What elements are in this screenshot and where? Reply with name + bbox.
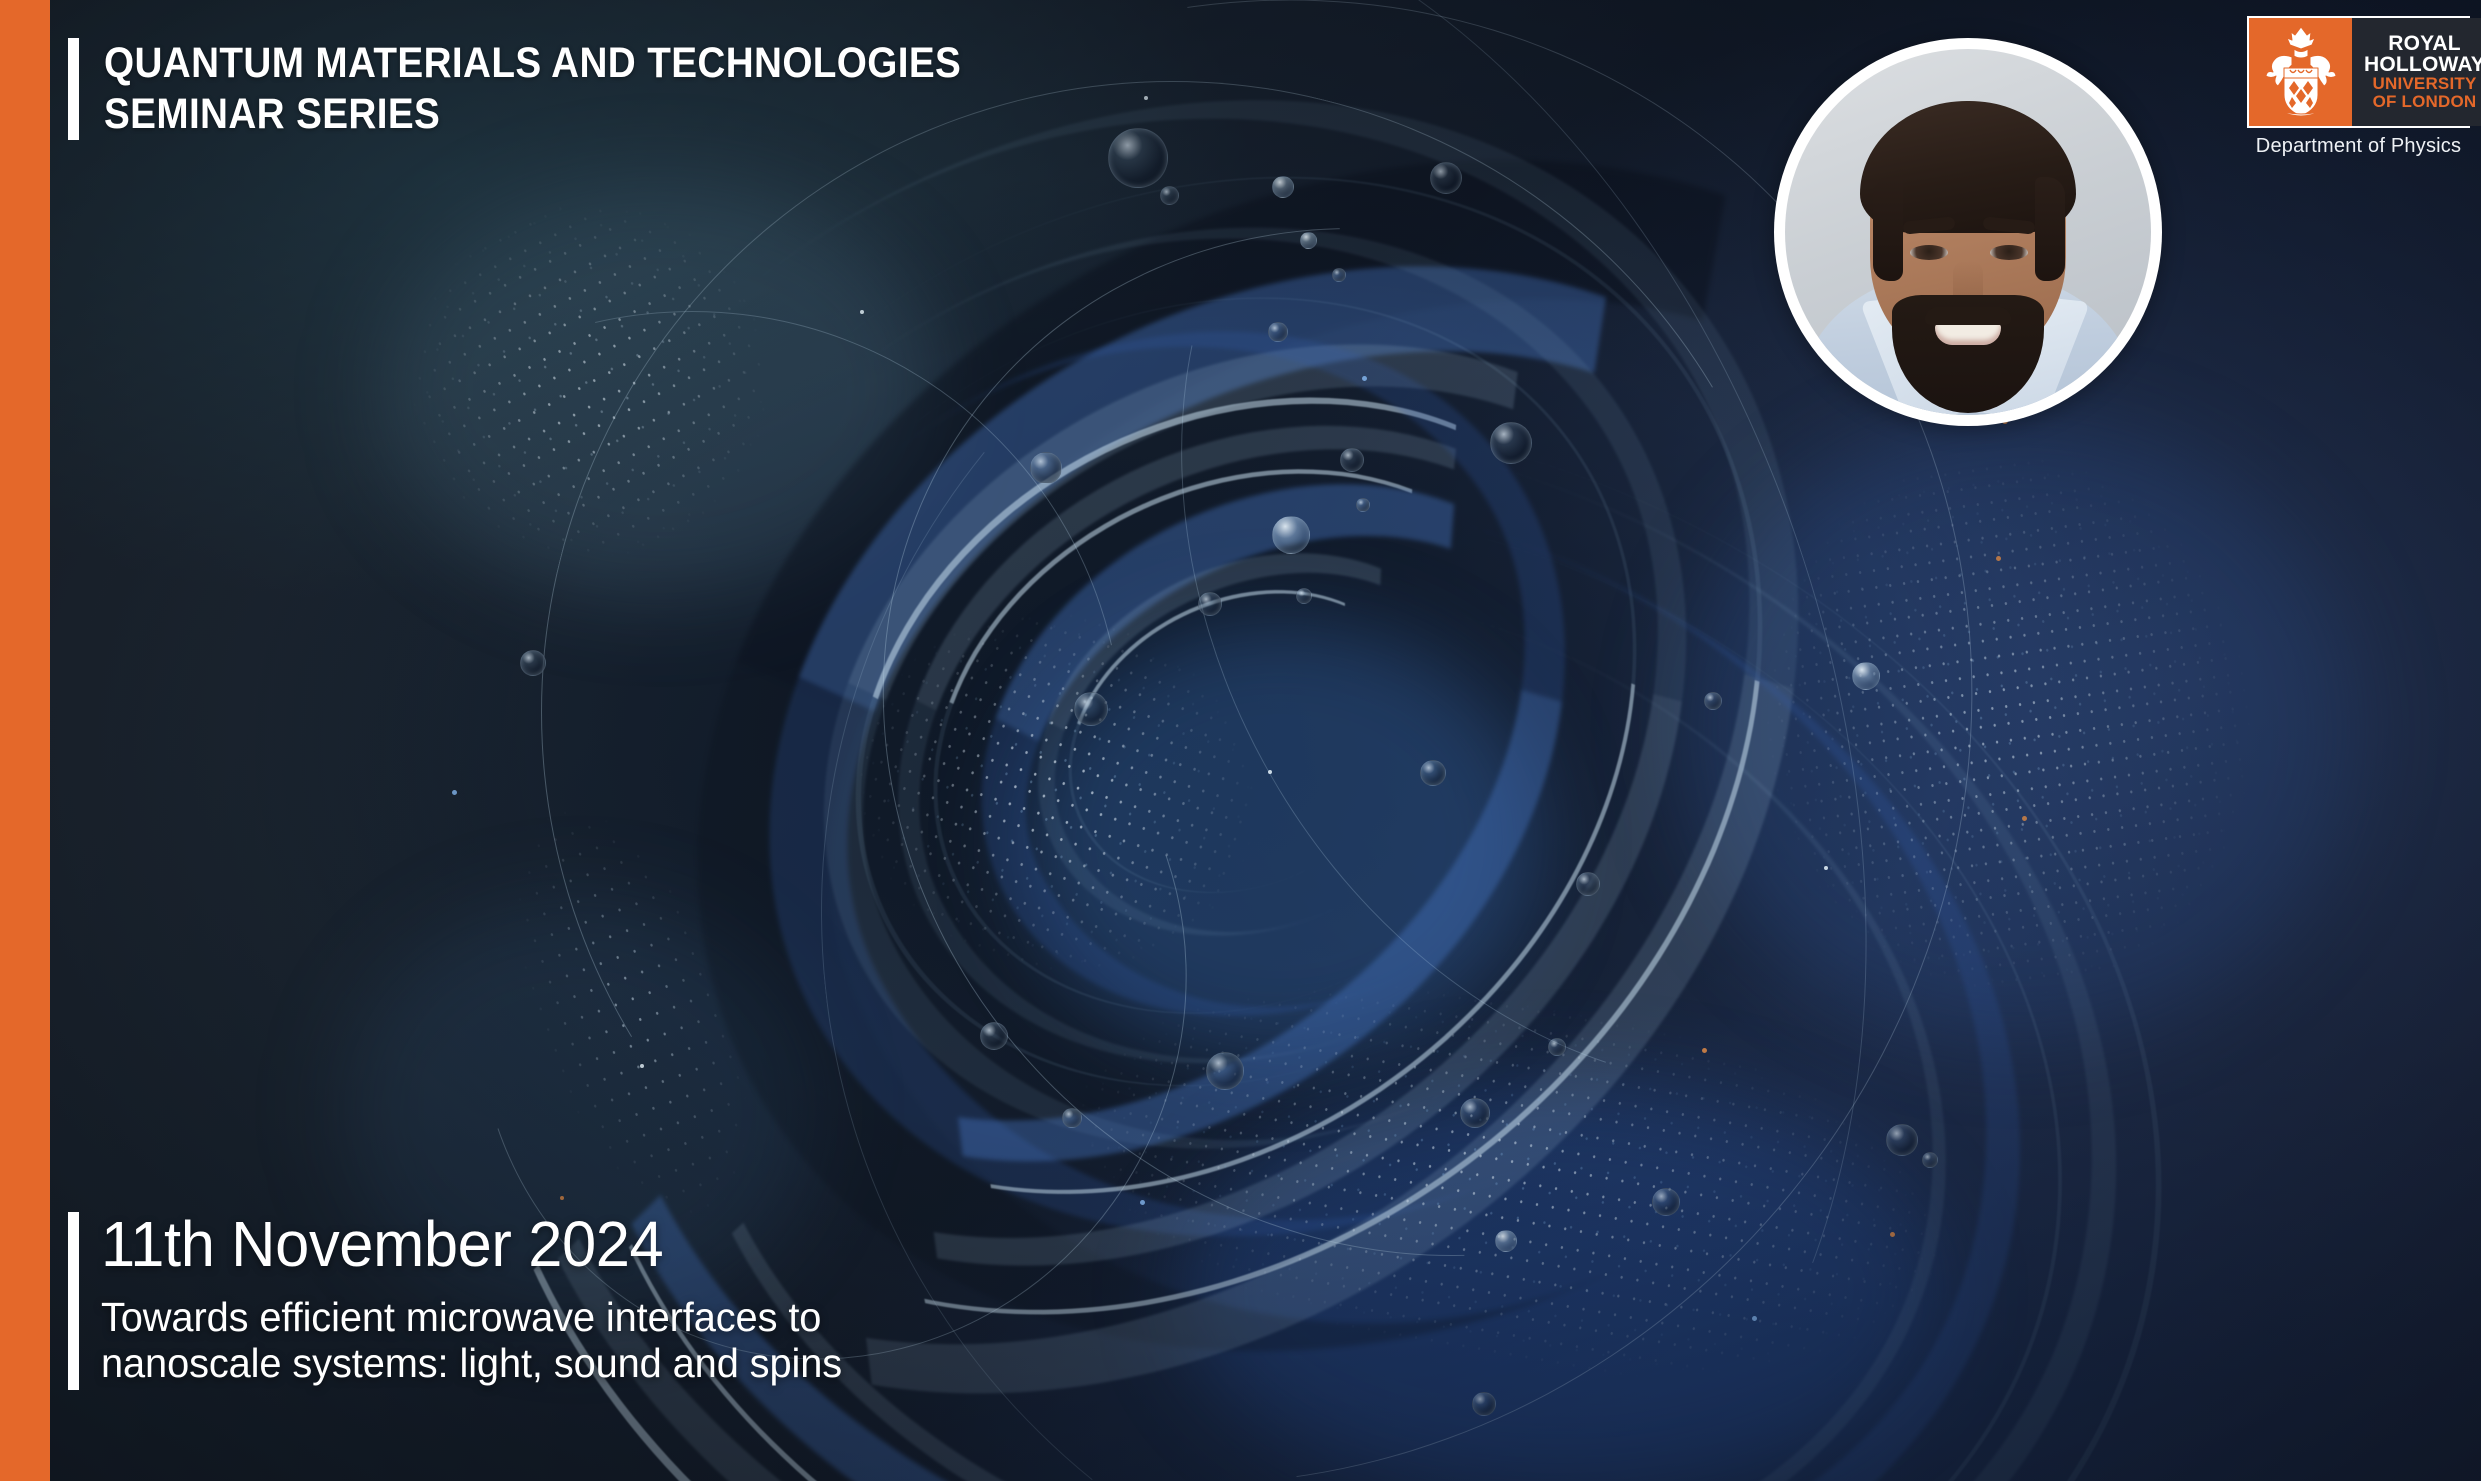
header-title-block: QUANTUM MATERIALS AND TECHNOLOGIES SEMIN…: [68, 38, 1056, 140]
header-text: QUANTUM MATERIALS AND TECHNOLOGIES SEMIN…: [104, 38, 1056, 140]
royal-holloway-logo: ROYAL HOLLOWAY UNIVERSITY OF LONDON Depa…: [2247, 16, 2470, 158]
logo-wordmark: ROYAL HOLLOWAY UNIVERSITY OF LONDON: [2352, 18, 2481, 126]
coat-of-arms-icon: [2249, 18, 2352, 126]
talk-title-line-1: Towards efficient microwave interfaces t…: [101, 1295, 842, 1341]
portrait-eye-right: [1990, 245, 2028, 260]
logo-word-holloway: HOLLOWAY: [2364, 54, 2481, 75]
department-label: Department of Physics: [2247, 135, 2470, 158]
series-title-line-2: SEMINAR SERIES: [104, 89, 961, 140]
portrait-sideburn-right: [2035, 177, 2065, 281]
footer-text: 11th November 2024 Towards efficient mic…: [101, 1212, 865, 1390]
left-orange-stripe: [0, 0, 50, 1481]
series-title-line-1: QUANTUM MATERIALS AND TECHNOLOGIES: [104, 38, 961, 89]
portrait-moustache: [1925, 307, 2011, 325]
logo-word-of-london: OF LONDON: [2364, 93, 2481, 111]
footer-details-block: 11th November 2024 Towards efficient mic…: [68, 1212, 865, 1390]
portrait-smile: [1935, 323, 2001, 345]
footer-accent-bar: [68, 1212, 79, 1390]
speaker-headshot: [1785, 49, 2151, 415]
seminar-poster: QUANTUM MATERIALS AND TECHNOLOGIES SEMIN…: [0, 0, 2481, 1481]
talk-title-line-2: nanoscale systems: light, sound and spin…: [101, 1341, 842, 1387]
speaker-photo-frame: [1774, 38, 2162, 426]
logo-word-royal: ROYAL: [2364, 33, 2481, 54]
logo-box: ROYAL HOLLOWAY UNIVERSITY OF LONDON: [2247, 16, 2470, 128]
portrait-sideburn-left: [1873, 177, 1903, 281]
seminar-date: 11th November 2024: [101, 1212, 834, 1276]
logo-word-university: UNIVERSITY: [2364, 75, 2481, 93]
talk-title: Towards efficient microwave interfaces t…: [101, 1295, 842, 1386]
portrait-eye-left: [1910, 245, 1948, 260]
header-accent-bar: [68, 38, 79, 140]
